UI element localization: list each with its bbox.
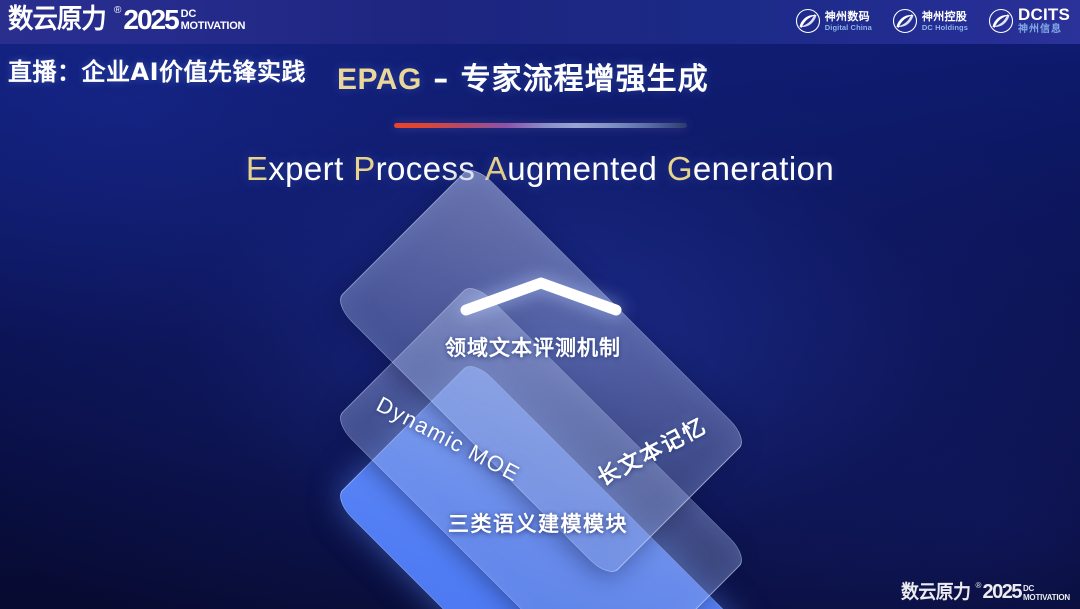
watermark-year: 2025 bbox=[982, 581, 1021, 603]
presentation-slide: 数云原力 ® 2025 DC MOTIVATION 神州数码 bbox=[0, 0, 1080, 609]
partner-logos: 神州数码 Digital China 神州控股 DC Holdings bbox=[795, 6, 1070, 36]
diagram-layer-top-label: 领域文本评测机制 bbox=[445, 332, 621, 362]
subtitle-cap-p: P bbox=[353, 150, 375, 187]
partner-name-cn: 神州控股 bbox=[922, 10, 968, 23]
page-title-acronym: EPAG bbox=[337, 63, 422, 96]
subtitle-word-expert: xpert bbox=[268, 150, 343, 187]
partner-text-block: 神州控股 DC Holdings bbox=[922, 10, 968, 33]
partner-logo-digital-china: 神州数码 Digital China bbox=[795, 8, 872, 34]
partner-name-en: DC Holdings bbox=[922, 23, 968, 33]
gradient-divider bbox=[394, 123, 687, 128]
brand-dc-motivation: DC MOTIVATION bbox=[181, 4, 245, 32]
subtitle-word-augmented: ugmented bbox=[507, 150, 657, 187]
partner-name-en: 神州信息 bbox=[1018, 24, 1070, 36]
page-title: EPAG – 专家流程增强生成 bbox=[337, 54, 709, 98]
layered-architecture-diagram: 领域文本评测机制 Dynamic MOE 长文本记忆 三类语义建模模块 bbox=[280, 220, 800, 580]
subtitle-expanded-acronym: Expert Process Augmented Generation bbox=[0, 150, 1080, 188]
swoosh-logo-icon bbox=[892, 8, 918, 34]
swoosh-logo-icon bbox=[988, 8, 1014, 34]
partner-logo-dc-holdings: 神州控股 DC Holdings bbox=[892, 8, 968, 34]
brand-name-cn: 数云原力 bbox=[8, 4, 106, 36]
partner-text-block: DCITS 神州信息 bbox=[1018, 6, 1070, 36]
partner-name-en: Digital China bbox=[825, 23, 872, 33]
brand-dc-label: DC bbox=[181, 9, 245, 20]
watermark-name-cn: 数云原力 bbox=[901, 581, 971, 603]
subtitle-cap-e: E bbox=[246, 150, 268, 187]
watermark-motivation-label: MOTIVATION bbox=[1023, 593, 1070, 602]
partner-logo-dcits: DCITS 神州信息 bbox=[988, 6, 1070, 36]
header-band: 数云原力 ® 2025 DC MOTIVATION 神州数码 bbox=[0, 0, 1080, 44]
partner-name-cn: 神州数码 bbox=[825, 10, 872, 23]
brand-motivation-label: MOTIVATION bbox=[181, 20, 245, 32]
watermark-dc-label: DC bbox=[1023, 585, 1070, 593]
footer-watermark: 数云原力 ® 2025 DC MOTIVATION bbox=[901, 581, 1070, 603]
brand-logo: 数云原力 ® 2025 DC MOTIVATION bbox=[8, 4, 245, 36]
watermark-registered-mark: ® bbox=[976, 581, 982, 591]
watermark-dc-motivation: DC MOTIVATION bbox=[1023, 581, 1070, 602]
diagram-layer-bottom-label: 三类语义建模模块 bbox=[448, 508, 628, 538]
partner-name-cn: DCITS bbox=[1018, 6, 1070, 24]
page-title-subtitle-cn: – 专家流程增强生成 bbox=[422, 62, 709, 97]
live-stream-title: 直播：企业AI价值先锋实践 bbox=[8, 52, 306, 87]
subtitle-word-generation: eneration bbox=[693, 150, 834, 187]
partner-text-block: 神州数码 Digital China bbox=[825, 10, 872, 33]
registered-mark: ® bbox=[114, 4, 121, 18]
subtitle-cap-g: G bbox=[667, 150, 693, 187]
swoosh-logo-icon bbox=[795, 8, 821, 34]
brand-year: 2025 bbox=[123, 4, 177, 36]
